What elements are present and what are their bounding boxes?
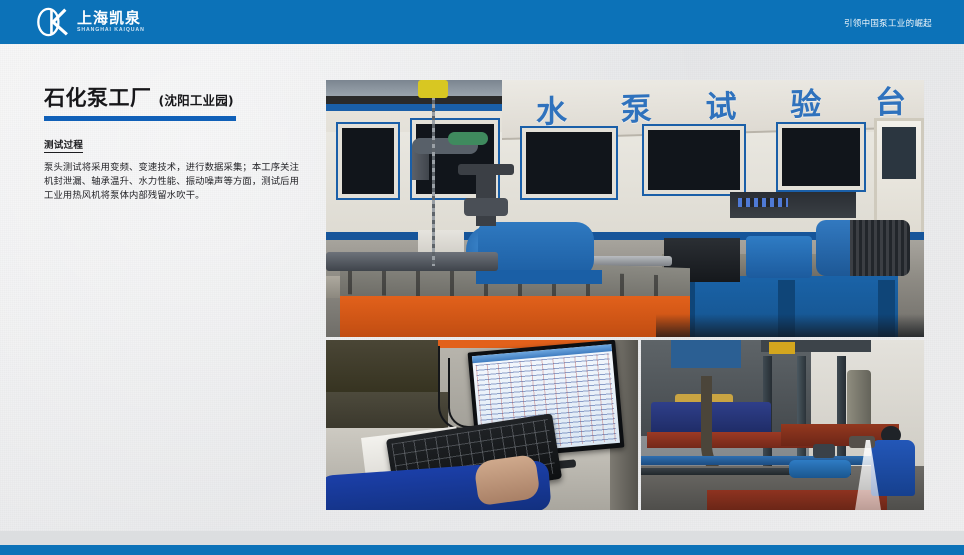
- valve-handwheel: [458, 164, 514, 175]
- brand-name-cn: 上海凯泉: [77, 11, 145, 26]
- suction-pipe: [326, 252, 498, 271]
- page-footer-bar: [0, 545, 964, 555]
- header-slogan: 引领中国泵工业的崛起: [844, 17, 932, 29]
- page-header: 上海凯泉 SHANGHAI KAIQUAN 引领中国泵工业的崛起: [0, 0, 964, 44]
- vertical-pipe: [837, 356, 846, 468]
- shaft-coupling: [746, 236, 812, 278]
- section-heading: 测试过程: [44, 137, 83, 153]
- crane-hook: [418, 80, 448, 98]
- text-column: 石化泵工厂 (沈阳工业园) 测试过程 泵头测试将采用变频、变速技术，进行数据采集…: [44, 82, 302, 203]
- window: [778, 124, 864, 190]
- motor-cooling-fins: [850, 220, 910, 276]
- body-line: 泵头测试将采用变频、变速技术，进行数据采集；本工序关注: [44, 160, 302, 174]
- pressure-vessel: [847, 370, 871, 432]
- slide-canvas: 石化泵工厂 (沈阳工业园) 测试过程 泵头测试将采用变频、变速技术，进行数据采集…: [0, 44, 964, 531]
- window: [644, 126, 744, 194]
- body-paragraph: 泵头测试将采用变频、变速技术，进行数据采集；本工序关注 机封泄漏、轴承温升、水力…: [44, 160, 302, 203]
- inline-valve: [813, 444, 835, 458]
- brand-name-en: SHANGHAI KAIQUAN: [77, 27, 145, 34]
- banner-char: 水: [536, 85, 569, 131]
- window: [522, 128, 616, 198]
- page-title: 石化泵工厂 (沈阳工业园): [44, 82, 302, 112]
- window: [338, 124, 398, 198]
- dark-cabinet: [326, 340, 438, 396]
- test-table-orange-base: [340, 296, 690, 337]
- floor-cables: [656, 314, 924, 337]
- blue-inline-pump: [789, 460, 851, 478]
- kaiquan-circle-k-logo-icon: [36, 7, 70, 37]
- body-line: 工业用热风机将泵体内部残留水吹干。: [44, 188, 302, 202]
- title-underline-rule: [44, 116, 236, 121]
- brand-logo[interactable]: 上海凯泉 SHANGHAI KAIQUAN: [36, 7, 145, 37]
- gate-valve-stem: [476, 168, 496, 226]
- banner-char: 台: [875, 80, 908, 122]
- data-acquisition-workstation-photo[interactable]: [326, 340, 638, 510]
- pump-baseplate: [476, 270, 602, 284]
- page-title-main: 石化泵工厂: [44, 82, 152, 112]
- valve-body: [464, 198, 508, 216]
- control-panel-indicators: [738, 198, 788, 207]
- green-pipe-section: [448, 132, 488, 145]
- worker-blue-uniform: [871, 440, 915, 496]
- banner-char: 泵: [621, 83, 654, 129]
- hot-air-blower-nozzle: [849, 436, 875, 448]
- vertical-pipe: [797, 356, 806, 468]
- page-title-sub: (沈阳工业园): [159, 90, 234, 109]
- photo-collage: 水 泵 试 验 台: [326, 80, 924, 510]
- blue-panel: [671, 340, 741, 368]
- body-line: 机封泄漏、轴承温升、水力性能、振动噪声等方面，测试后用: [44, 174, 302, 188]
- petrochemical-pump-test-area-photo[interactable]: [641, 340, 924, 510]
- slide-page: 上海凯泉 SHANGHAI KAIQUAN 引领中国泵工业的崛起 石化泵工厂 (…: [0, 0, 964, 555]
- pump-test-bench-photo[interactable]: 水 泵 试 验 台: [326, 80, 924, 337]
- yellow-hoist: [769, 342, 795, 354]
- hoist-chain: [432, 80, 435, 266]
- banner-char: 试: [706, 80, 739, 126]
- footer-spacer: [0, 531, 964, 545]
- banner-char: 验: [790, 80, 823, 124]
- brand-logo-text: 上海凯泉 SHANGHAI KAIQUAN: [77, 11, 145, 34]
